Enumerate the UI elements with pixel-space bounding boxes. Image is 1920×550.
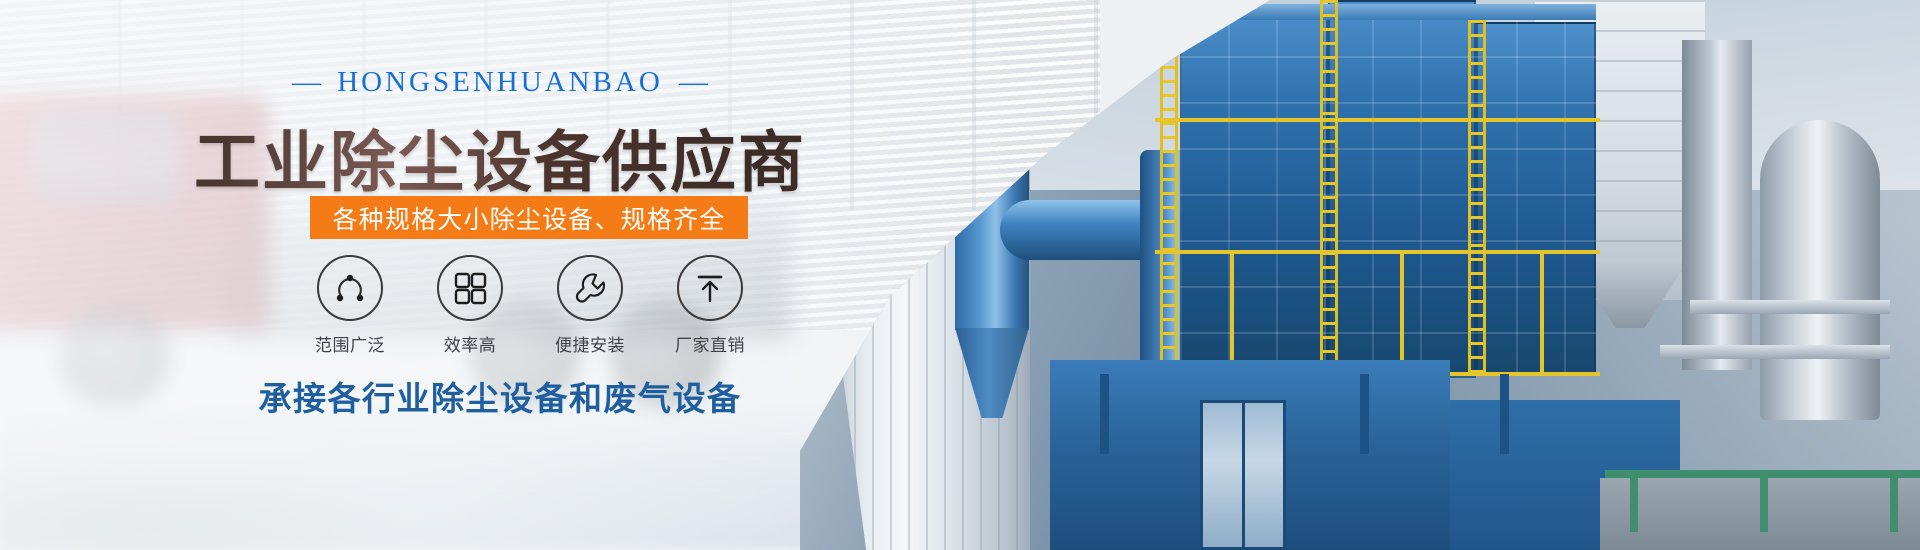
hero-banner: — HONGSENHUANBAO — 工业除尘设备供应商 工业除尘设备供应商 各… — [0, 0, 1920, 550]
feature-item-efficiency[interactable]: 效率高 — [420, 255, 520, 356]
baghouse-top-rail — [1180, 4, 1596, 20]
yellow-rail-post — [1230, 250, 1234, 372]
coverage-network-icon — [317, 255, 383, 321]
pipe — [1660, 345, 1890, 359]
support-leg — [1500, 374, 1509, 454]
brand-eyebrow: — HONGSENHUANBAO — — [0, 66, 1000, 99]
green-fence-post — [1760, 470, 1768, 532]
yellow-rail-post — [1540, 250, 1544, 372]
page-title: 工业除尘设备供应商 — [0, 109, 1000, 205]
support-leg — [1100, 374, 1109, 454]
green-fence-post — [1890, 470, 1898, 532]
grid-squares-icon — [437, 255, 503, 321]
up-arrow-icon — [677, 255, 743, 321]
feature-label: 厂家直销 — [660, 331, 760, 356]
yellow-rail-post — [1400, 250, 1404, 372]
feature-item-factory-direct[interactable]: 厂家直销 — [660, 255, 760, 356]
banner-tagline: 承接各行业除尘设备和废气设备 — [0, 372, 1000, 420]
dash-right: — — [673, 66, 714, 98]
brand-latin-name: HONGSENHUANBAO — [337, 66, 663, 98]
green-fence-post — [1630, 470, 1638, 532]
support-leg — [1360, 374, 1369, 454]
wrench-icon — [557, 255, 623, 321]
steel-tank — [1760, 120, 1880, 420]
feature-item-installation[interactable]: 便捷安装 — [540, 255, 640, 356]
feature-label: 范围广泛 — [300, 331, 400, 356]
plant-door-split — [1242, 400, 1245, 550]
yellow-walkway-rail — [1155, 250, 1600, 254]
highlight-bar-text: 各种规格大小除尘设备、规格齐全 — [332, 200, 725, 236]
yellow-walkway-rail — [1155, 118, 1600, 122]
highlight-bar: 各种规格大小除尘设备、规格齐全 — [310, 196, 748, 239]
yellow-ladder — [1160, 10, 1178, 370]
feature-item-coverage[interactable]: 范围广泛 — [300, 255, 400, 356]
steel-column — [1682, 40, 1752, 370]
feature-label: 便捷安装 — [540, 331, 640, 356]
baghouse-panel-grid — [1180, 10, 1596, 374]
dash-left: — — [286, 66, 327, 98]
yellow-ladder — [1320, 0, 1338, 378]
feature-label: 效率高 — [420, 331, 520, 356]
pipe — [1690, 300, 1890, 314]
yellow-ladder — [1468, 20, 1486, 375]
feature-list: 范围广泛 效率高 — [300, 255, 760, 356]
banner-content: — HONGSENHUANBAO — 工业除尘设备供应商 工业除尘设备供应商 各… — [0, 0, 1000, 550]
